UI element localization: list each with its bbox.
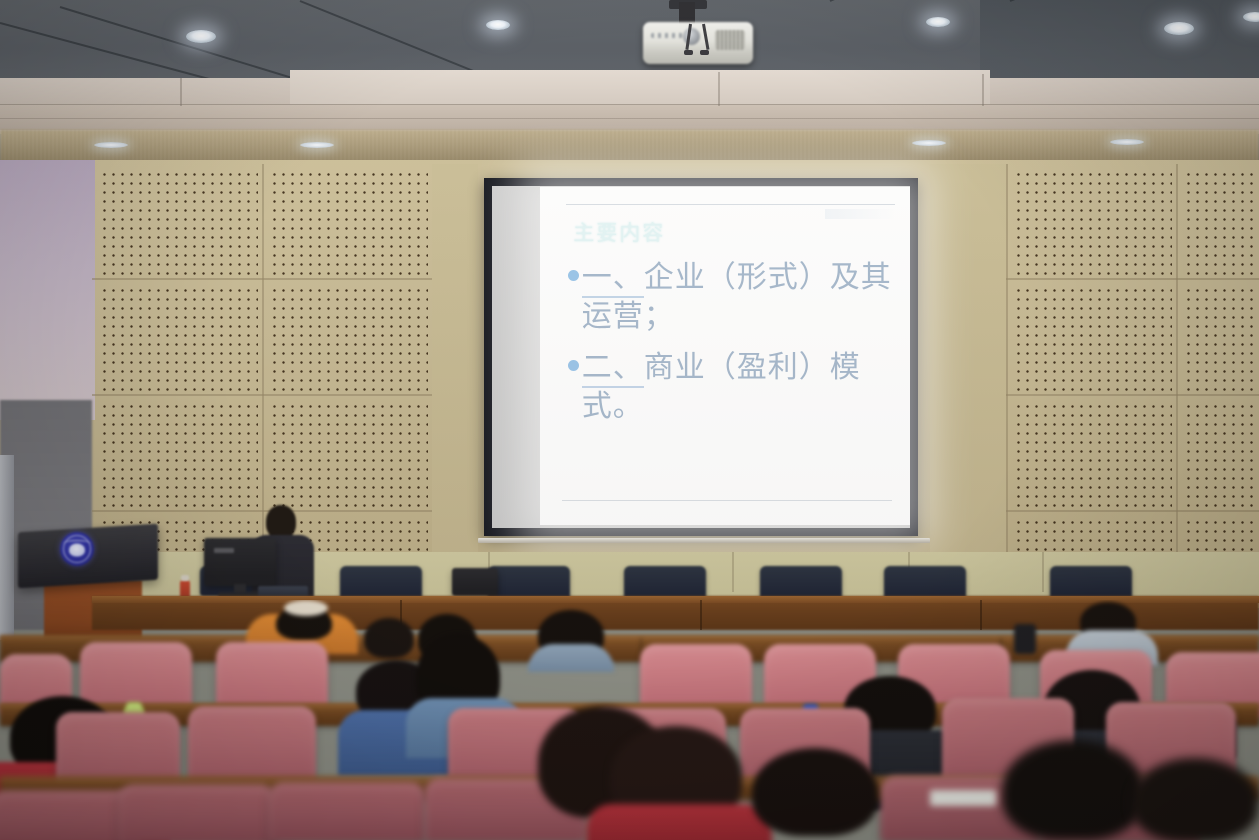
student (604, 726, 754, 840)
slide-bullet-item: 二、商业（盈利）模式。 (568, 348, 899, 426)
projected-slide: 主要内容 一、企业（形式）及其运营； 二、商业（盈利）模式。 (540, 187, 910, 525)
slide-bullet-item: 一、企业（形式）及其运营； (568, 258, 899, 336)
student-top (528, 644, 614, 672)
university-emblem-icon (60, 532, 94, 566)
student (1126, 758, 1259, 840)
panel-seam (92, 278, 437, 280)
panel-seam (1004, 394, 1259, 396)
wall-wash-light (912, 140, 946, 146)
acoustic-panel (268, 168, 428, 276)
audience-seating-area (0, 600, 1259, 840)
projector-bracket-foot (700, 50, 709, 55)
projector-bracket-foot (684, 50, 693, 55)
bullet-point-icon (568, 360, 579, 371)
soffit-seam (982, 74, 984, 106)
slide-header-mark (825, 209, 895, 219)
panel-seam (1176, 164, 1178, 559)
ceiling-downlight (186, 30, 216, 43)
wall-wash-light (300, 142, 334, 148)
acoustic-panel (1012, 168, 1172, 276)
acoustic-panel (1012, 284, 1172, 392)
projector-vent (715, 30, 745, 50)
slide-bullet-text: 一、企业（形式）及其运营； (582, 258, 899, 336)
panel-seam (1004, 278, 1259, 280)
left-wall-upper (0, 160, 95, 420)
student (358, 618, 420, 666)
emblem-glyph (69, 544, 85, 557)
soffit-seam (180, 78, 182, 106)
slide-content: 主要内容 一、企业（形式）及其运营； 二、商业（盈利）模式。 (540, 187, 910, 525)
acoustic-panel (98, 168, 258, 276)
ceiling-downlight (486, 20, 510, 30)
ceiling-projector (643, 22, 753, 64)
student (744, 748, 890, 840)
acoustic-panel (268, 284, 428, 392)
stage-chair[interactable] (1050, 566, 1132, 600)
ceiling-downlight (1164, 22, 1194, 35)
bullet-point-icon (568, 270, 579, 281)
student (534, 610, 608, 668)
student-hair (752, 748, 878, 836)
secondary-monitor[interactable] (452, 568, 498, 596)
wall-between-panels (432, 164, 478, 554)
acoustic-panel (1182, 284, 1259, 392)
screen-bottom-rail (478, 538, 930, 543)
wall-between-panels (930, 164, 1006, 554)
ceiling-downlight (926, 17, 950, 27)
ribbed-wall-shading (0, 130, 1259, 164)
student-backpack (1014, 624, 1036, 654)
student-hair (364, 618, 414, 658)
panel-seam (1006, 164, 1008, 559)
monitor-brand-mark (214, 548, 234, 553)
wall-wash-light (94, 142, 128, 148)
slide-bullet-number: 一、 (582, 260, 644, 298)
stage-chair[interactable] (488, 566, 570, 600)
slide-title: 主要内容 (573, 217, 665, 247)
slide-bullet-number: 二、 (582, 350, 644, 388)
slide-top-rule (566, 204, 895, 205)
panel-seam (262, 164, 264, 554)
audience-seat[interactable] (268, 782, 426, 840)
panel-seam (92, 394, 437, 396)
stage-chair[interactable] (340, 566, 422, 600)
acoustic-panel (98, 400, 258, 508)
stage-wall-seam (1042, 552, 1044, 592)
student-hair (1002, 740, 1144, 840)
presenter-monitor[interactable] (204, 538, 276, 586)
acoustic-panel (98, 284, 258, 392)
audience-seat[interactable] (118, 784, 276, 840)
stage-chair[interactable] (884, 566, 966, 600)
stage-chair[interactable] (624, 566, 706, 600)
student-arms (284, 600, 328, 616)
wall-wash-light (1110, 139, 1144, 145)
slide-bullet-list: 一、企业（形式）及其运营； 二、商业（盈利）模式。 (568, 258, 899, 426)
soffit-edge-line (0, 118, 1259, 119)
acoustic-panel (268, 400, 428, 508)
paper-sheet (930, 790, 996, 806)
student-hair (1132, 758, 1258, 840)
panel-seam (1004, 510, 1259, 512)
acoustic-panel (1012, 516, 1172, 556)
stage-chair[interactable] (760, 566, 842, 600)
soffit-seam (718, 72, 720, 106)
acoustic-panel (1012, 400, 1172, 508)
acoustic-panel (1182, 168, 1259, 276)
acoustic-panel (1182, 400, 1259, 508)
bottle-cap (181, 575, 189, 581)
lecture-hall-screenshot: 主要内容 一、企业（形式）及其运营； 二、商业（盈利）模式。 (0, 0, 1259, 840)
slide-bullet-text: 二、商业（盈利）模式。 (582, 348, 899, 426)
acoustic-panel (1182, 516, 1259, 556)
backpack-body (1014, 624, 1036, 654)
stage-wall-seam (732, 552, 734, 592)
presenter-head (266, 505, 296, 539)
soffit-edge-line (0, 104, 1259, 105)
slide-bottom-rule (562, 500, 891, 501)
